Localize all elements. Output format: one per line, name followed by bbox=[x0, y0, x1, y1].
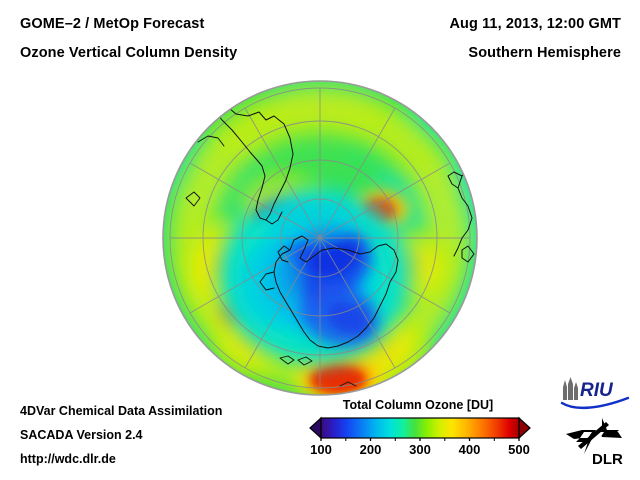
valid-datetime: Aug 11, 2013, 12:00 GMT bbox=[449, 16, 621, 32]
colorbar-tick-label: 100 bbox=[310, 442, 332, 457]
region-label: Southern Hemisphere bbox=[468, 45, 621, 61]
colorbar-tick-label: 400 bbox=[459, 442, 481, 457]
version-label: SACADA Version 2.4 bbox=[20, 428, 143, 442]
colorbar-tick-label: 500 bbox=[508, 442, 530, 457]
colorbar-title: Total Column Ozone [DU] bbox=[305, 398, 531, 412]
dlr-eagle-icon bbox=[566, 418, 622, 454]
riu-wordmark: RIU bbox=[580, 380, 614, 401]
colorbar-left-arrow bbox=[310, 418, 321, 438]
colorbar-tick-label: 300 bbox=[409, 442, 431, 457]
data-center-url[interactable]: http://wdc.dlr.de bbox=[20, 452, 116, 466]
colorbar: Total Column Ozone [DU] bbox=[305, 398, 537, 470]
ozone-map-globe bbox=[162, 80, 478, 396]
colorbar-swatch bbox=[305, 415, 537, 441]
ozone-forecast-figure: GOME–2 / MetOp Forecast Ozone Vertical C… bbox=[0, 0, 640, 480]
dlr-logo: DLR bbox=[562, 416, 632, 468]
dlr-wordmark: DLR bbox=[592, 451, 623, 468]
riu-tower-icon bbox=[563, 377, 578, 400]
colorbar-right-arrow bbox=[519, 418, 530, 438]
colorbar-tick-labels: 100 200 300 400 500 bbox=[305, 442, 537, 462]
ozone-map-svg bbox=[162, 80, 478, 396]
product-title: Ozone Vertical Column Density bbox=[20, 45, 237, 61]
assimilation-method-label: 4DVar Chemical Data Assimilation bbox=[20, 404, 222, 418]
riu-logo: RIU bbox=[559, 376, 631, 410]
instrument-title: GOME–2 / MetOp Forecast bbox=[20, 16, 204, 32]
colorbar-gradient bbox=[321, 418, 519, 438]
colorbar-tick-label: 200 bbox=[360, 442, 382, 457]
